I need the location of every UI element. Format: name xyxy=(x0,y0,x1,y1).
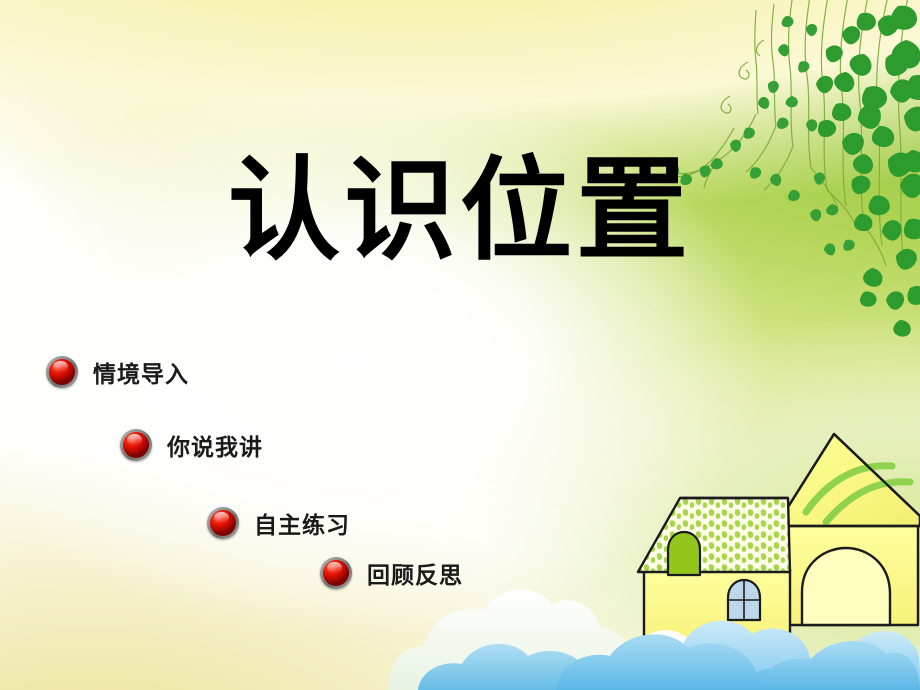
agenda-item-label: 你说我讲 xyxy=(167,428,263,462)
agenda-item-2[interactable]: 你说我讲 xyxy=(120,428,263,462)
agenda-item-1[interactable]: 情境导入 xyxy=(46,355,189,389)
red-sphere-bullet-icon xyxy=(207,507,239,539)
presentation-slide: 认识位置 情境导入 你说我讲 自主练习 回顾反思 xyxy=(0,0,920,690)
agenda-item-label: 回顾反思 xyxy=(367,556,463,590)
agenda-item-4[interactable]: 回顾反思 xyxy=(320,556,463,590)
red-sphere-bullet-icon xyxy=(120,429,152,461)
agenda-item-label: 情境导入 xyxy=(93,355,189,389)
red-sphere-bullet-icon xyxy=(320,557,352,589)
agenda-item-3[interactable]: 自主练习 xyxy=(207,506,350,540)
agenda-list: 情境导入 你说我讲 自主练习 回顾反思 xyxy=(0,0,920,690)
agenda-item-label: 自主练习 xyxy=(254,506,350,540)
red-sphere-bullet-icon xyxy=(46,356,78,388)
